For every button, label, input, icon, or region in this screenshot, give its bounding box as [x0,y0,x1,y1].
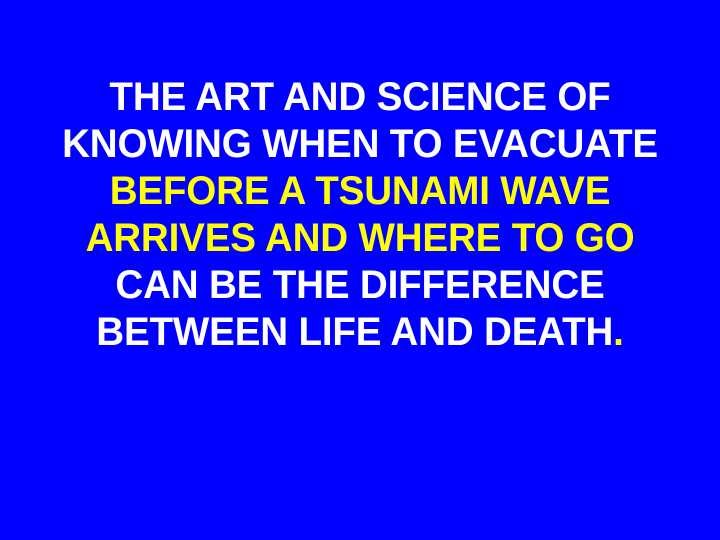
slide-final-period: . [613,310,624,354]
slide-canvas: THE ART AND SCIENCE OF KNOWING WHEN TO E… [0,0,720,540]
slide-text-block: THE ART AND SCIENCE OF KNOWING WHEN TO E… [0,74,720,356]
slide-line-2: KNOWING WHEN TO EVACUATE [13,121,708,168]
slide-line-1: THE ART AND SCIENCE OF [13,74,708,121]
slide-line-4: ARRIVES AND WHERE TO GO [13,215,708,262]
slide-line-5: CAN BE THE DIFFERENCE [13,262,708,309]
slide-line-6-text: BETWEEN LIFE AND DEATH [96,310,613,354]
slide-line-3: BEFORE A TSUNAMI WAVE [13,168,708,215]
slide-line-6: BETWEEN LIFE AND DEATH. [13,309,708,356]
